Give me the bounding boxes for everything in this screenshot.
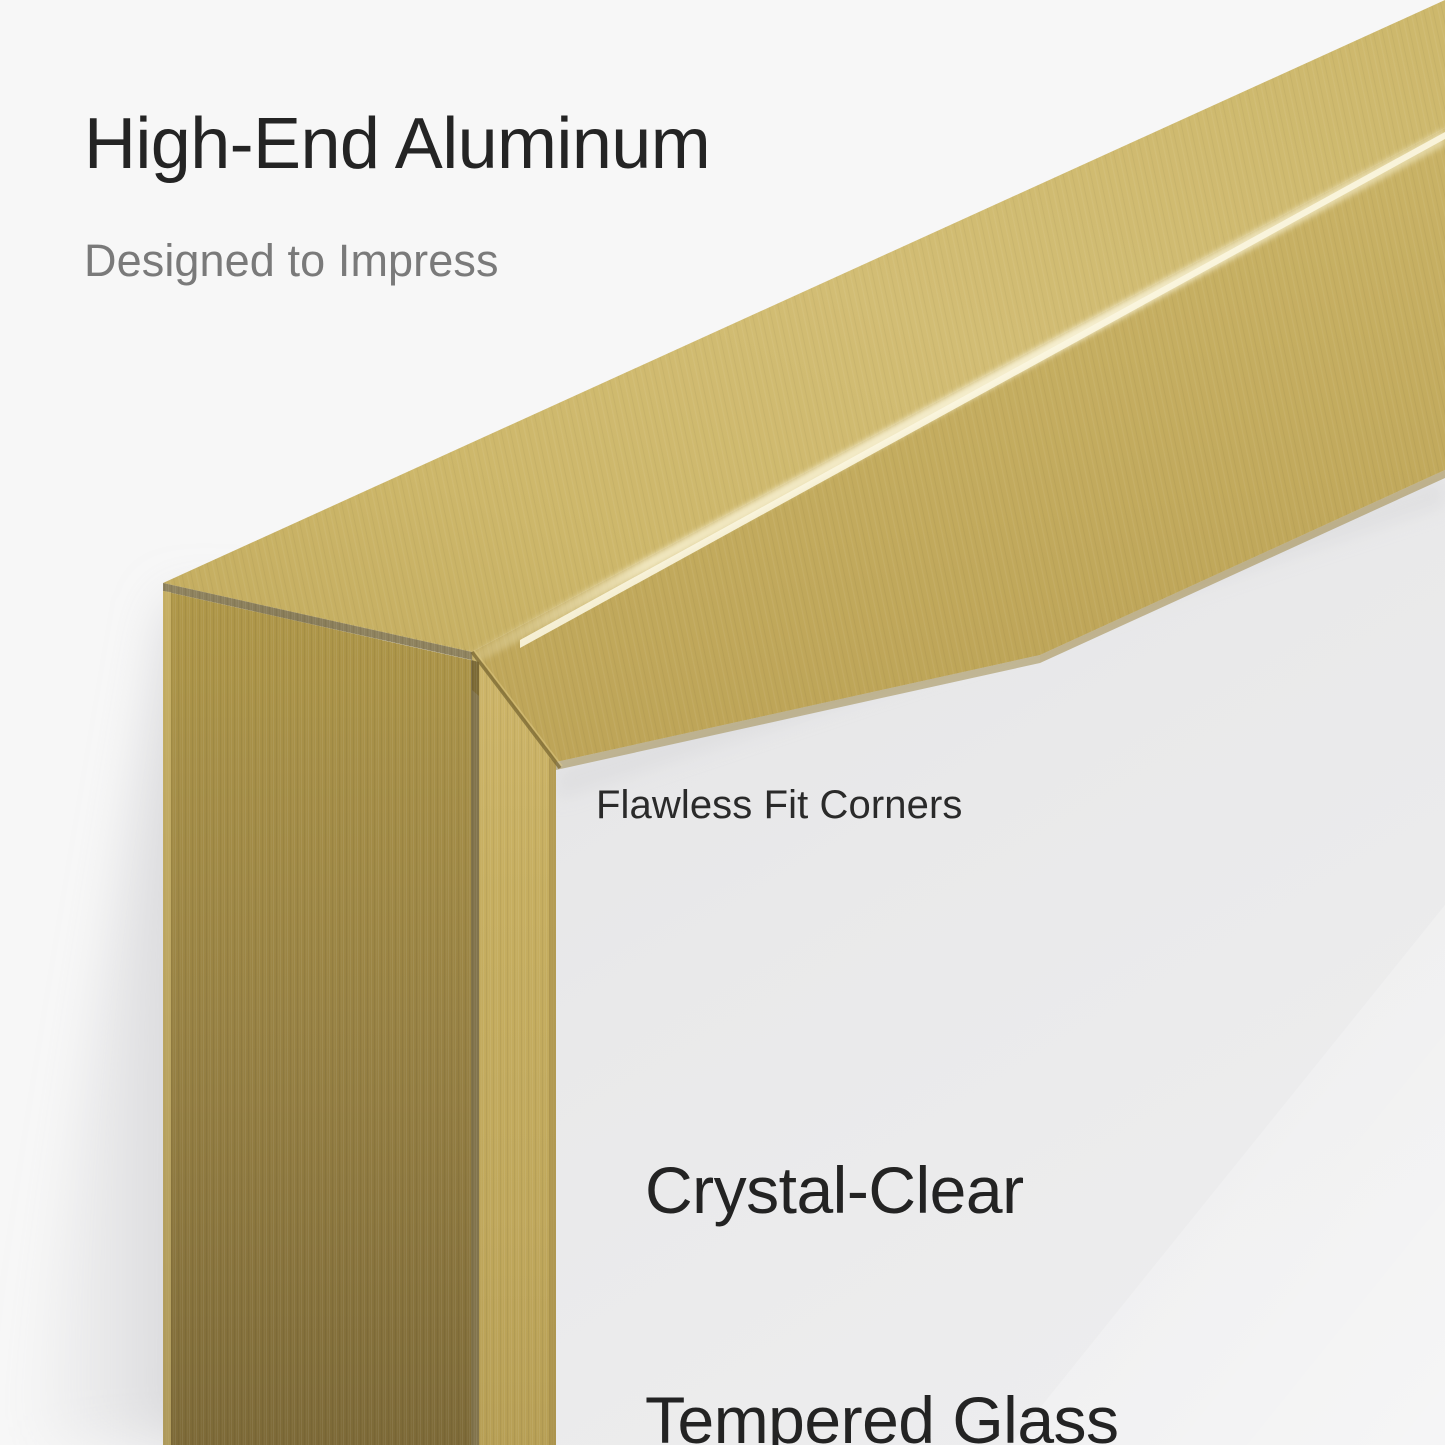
callout-glass-title-line1: Crystal-Clear bbox=[645, 1152, 1119, 1229]
page-title: High-End Aluminum bbox=[84, 108, 710, 181]
callout-flawless-fit-corners: Flawless Fit Corners bbox=[596, 783, 963, 828]
header-text-block: High-End Aluminum Designed to Impress bbox=[84, 72, 710, 321]
page-subtitle: Designed to Impress bbox=[84, 237, 710, 284]
product-feature-image: High-End Aluminum Designed to Impress Fl… bbox=[0, 0, 1445, 1445]
callout-glass-title: Crystal-Clear Tempered Glass bbox=[645, 999, 1119, 1445]
callout-glass-block: Crystal-Clear Tempered Glass Keeps your … bbox=[645, 963, 1119, 1445]
callout-glass-title-line2: Tempered Glass bbox=[645, 1382, 1119, 1445]
